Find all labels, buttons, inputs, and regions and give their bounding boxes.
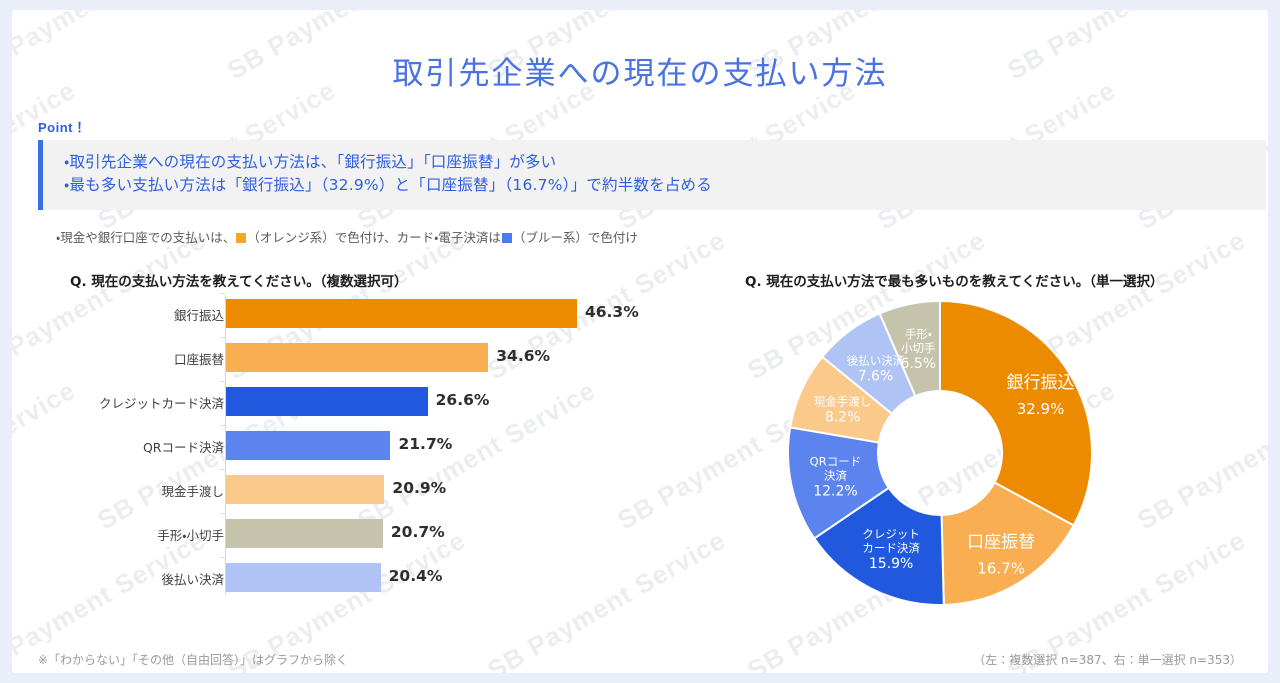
donut-value-label: 7.6% [858, 369, 894, 385]
bar-chart: 銀行振込46.3%口座振替34.6%クレジットカード決済26.6%QRコード決済… [52, 293, 692, 598]
footer-sample-size: （左：複数選択 n=387、右：単一選択 n=353） [973, 651, 1242, 668]
orange-swatch-icon [236, 233, 246, 243]
bar-value-label: 21.7% [398, 435, 452, 453]
watermark-text: SB Payment Service [1262, 525, 1268, 673]
color-legend-note: ・現金や銀行口座での支払いは、（オレンジ系）で色付け、カード・電子決済は（ブルー… [56, 227, 638, 246]
bar-value-label: 26.6% [436, 391, 490, 409]
bar-fill [226, 519, 383, 548]
donut-value-label: 16.7% [977, 560, 1025, 578]
color-note-orange-text: （オレンジ系）で色付け、カード・電子決済は [247, 230, 501, 245]
point-lines: ・取引先企業への現在の支払い方法は、「銀行振込」「口座振替」が多い ・最も多い支… [64, 151, 712, 197]
bar-axis-tick [220, 513, 225, 514]
donut-category-label: クレジット [862, 527, 920, 541]
bar-row: 銀行振込46.3% [52, 293, 692, 337]
bar-fill [226, 299, 577, 328]
donut-value-label: 6.5% [901, 356, 937, 372]
donut-value-label: 15.9% [869, 556, 913, 572]
point-line-1: ・取引先企業への現在の支払い方法は、「銀行振込」「口座振替」が多い [64, 151, 712, 174]
watermark-text: SB Payment Service [1132, 375, 1268, 537]
donut-category-label: 現金手渡し [814, 395, 872, 409]
bar-axis-tick [220, 381, 225, 382]
footer-note: ※「わからない」「その他（自由回答）」はグラフから除く [38, 651, 348, 668]
donut-value-label: 12.2% [813, 484, 857, 500]
donut-category-label: 決済 [824, 469, 847, 483]
bar-axis-tick [220, 425, 225, 426]
bar-value-label: 20.7% [391, 523, 445, 541]
bar-axis-tick [220, 469, 225, 470]
bar-category-label: 口座振替 [24, 349, 224, 368]
bar-category-label: 銀行振込 [24, 305, 224, 324]
bar-category-label: QRコード決済 [24, 437, 224, 456]
bar-fill [226, 475, 384, 504]
bar-value-label: 34.6% [496, 347, 550, 365]
bar-category-label: クレジットカード決済 [24, 393, 224, 412]
bar-row: 口座振替34.6% [52, 337, 692, 381]
donut-svg: 銀行振込32.9%口座振替16.7%クレジットカード決済15.9%QRコード決済… [745, 291, 1145, 621]
donut-category-label: 手形・ [905, 327, 932, 341]
page-title: 取引先企業への現在の支払い方法 [12, 48, 1268, 93]
bar-row: クレジットカード決済26.6% [52, 381, 692, 425]
bar-category-label: 後払い決済 [24, 569, 224, 588]
bar-fill [226, 431, 390, 460]
point-label: Point！ [38, 117, 87, 136]
bar-row: 手形・小切手20.7% [52, 513, 692, 557]
bar-row: 現金手渡し20.9% [52, 469, 692, 513]
donut-category-label: 銀行振込 [1007, 373, 1075, 393]
watermark-text: SB Payment Service [1262, 225, 1268, 387]
donut-category-label: カード決済 [862, 541, 920, 555]
point-line-2: ・最も多い支払い方法は「銀行振込」（32.9%）と「口座振替」（16.7%）」で… [64, 174, 712, 197]
color-note-prefix: ・現金や銀行口座での支払いは、 [56, 230, 235, 245]
donut-category-label: 小切手 [901, 341, 936, 355]
bar-chart-question: Q. 現在の支払い方法を教えてください。（複数選択可） [70, 270, 407, 290]
donut-value-label: 8.2% [825, 410, 861, 426]
bar-category-label: 現金手渡し [24, 481, 224, 500]
donut-value-label: 32.9% [1017, 400, 1065, 418]
bar-row: QRコード決済21.7% [52, 425, 692, 469]
point-box: ・取引先企業への現在の支払い方法は、「銀行振込」「口座振替」が多い ・最も多い支… [38, 140, 1266, 210]
bar-axis-tick [220, 293, 225, 294]
donut-category-label: QRコード [810, 455, 862, 469]
blue-swatch-icon [502, 233, 512, 243]
bar-value-label: 46.3% [585, 303, 639, 321]
donut-category-label: 口座振替 [967, 533, 1035, 553]
point-accent-bar [38, 140, 43, 210]
color-note-blue-text: （ブルー系）で色付け [513, 230, 638, 245]
slide-card: SB Payment ServiceSB Payment ServiceSB P… [12, 10, 1268, 673]
donut-chart: 銀行振込32.9%口座振替16.7%クレジットカード決済15.9%QRコード決済… [745, 291, 1145, 621]
bar-axis-tick [220, 337, 225, 338]
bar-fill [226, 343, 488, 372]
slide-frame: SB Payment ServiceSB Payment ServiceSB P… [0, 0, 1280, 683]
bar-category-label: 手形・小切手 [24, 525, 224, 544]
bar-row: 後払い決済20.4% [52, 557, 692, 601]
bar-value-label: 20.9% [392, 479, 446, 497]
bar-axis-tick [220, 557, 225, 558]
bar-fill [226, 563, 381, 592]
bar-value-label: 20.4% [389, 567, 443, 585]
bar-fill [226, 387, 428, 416]
donut-chart-question: Q. 現在の支払い方法で最も多いものを教えてください。（単一選択） [745, 270, 1163, 290]
donut-category-label: 後払い決済 [847, 354, 905, 368]
